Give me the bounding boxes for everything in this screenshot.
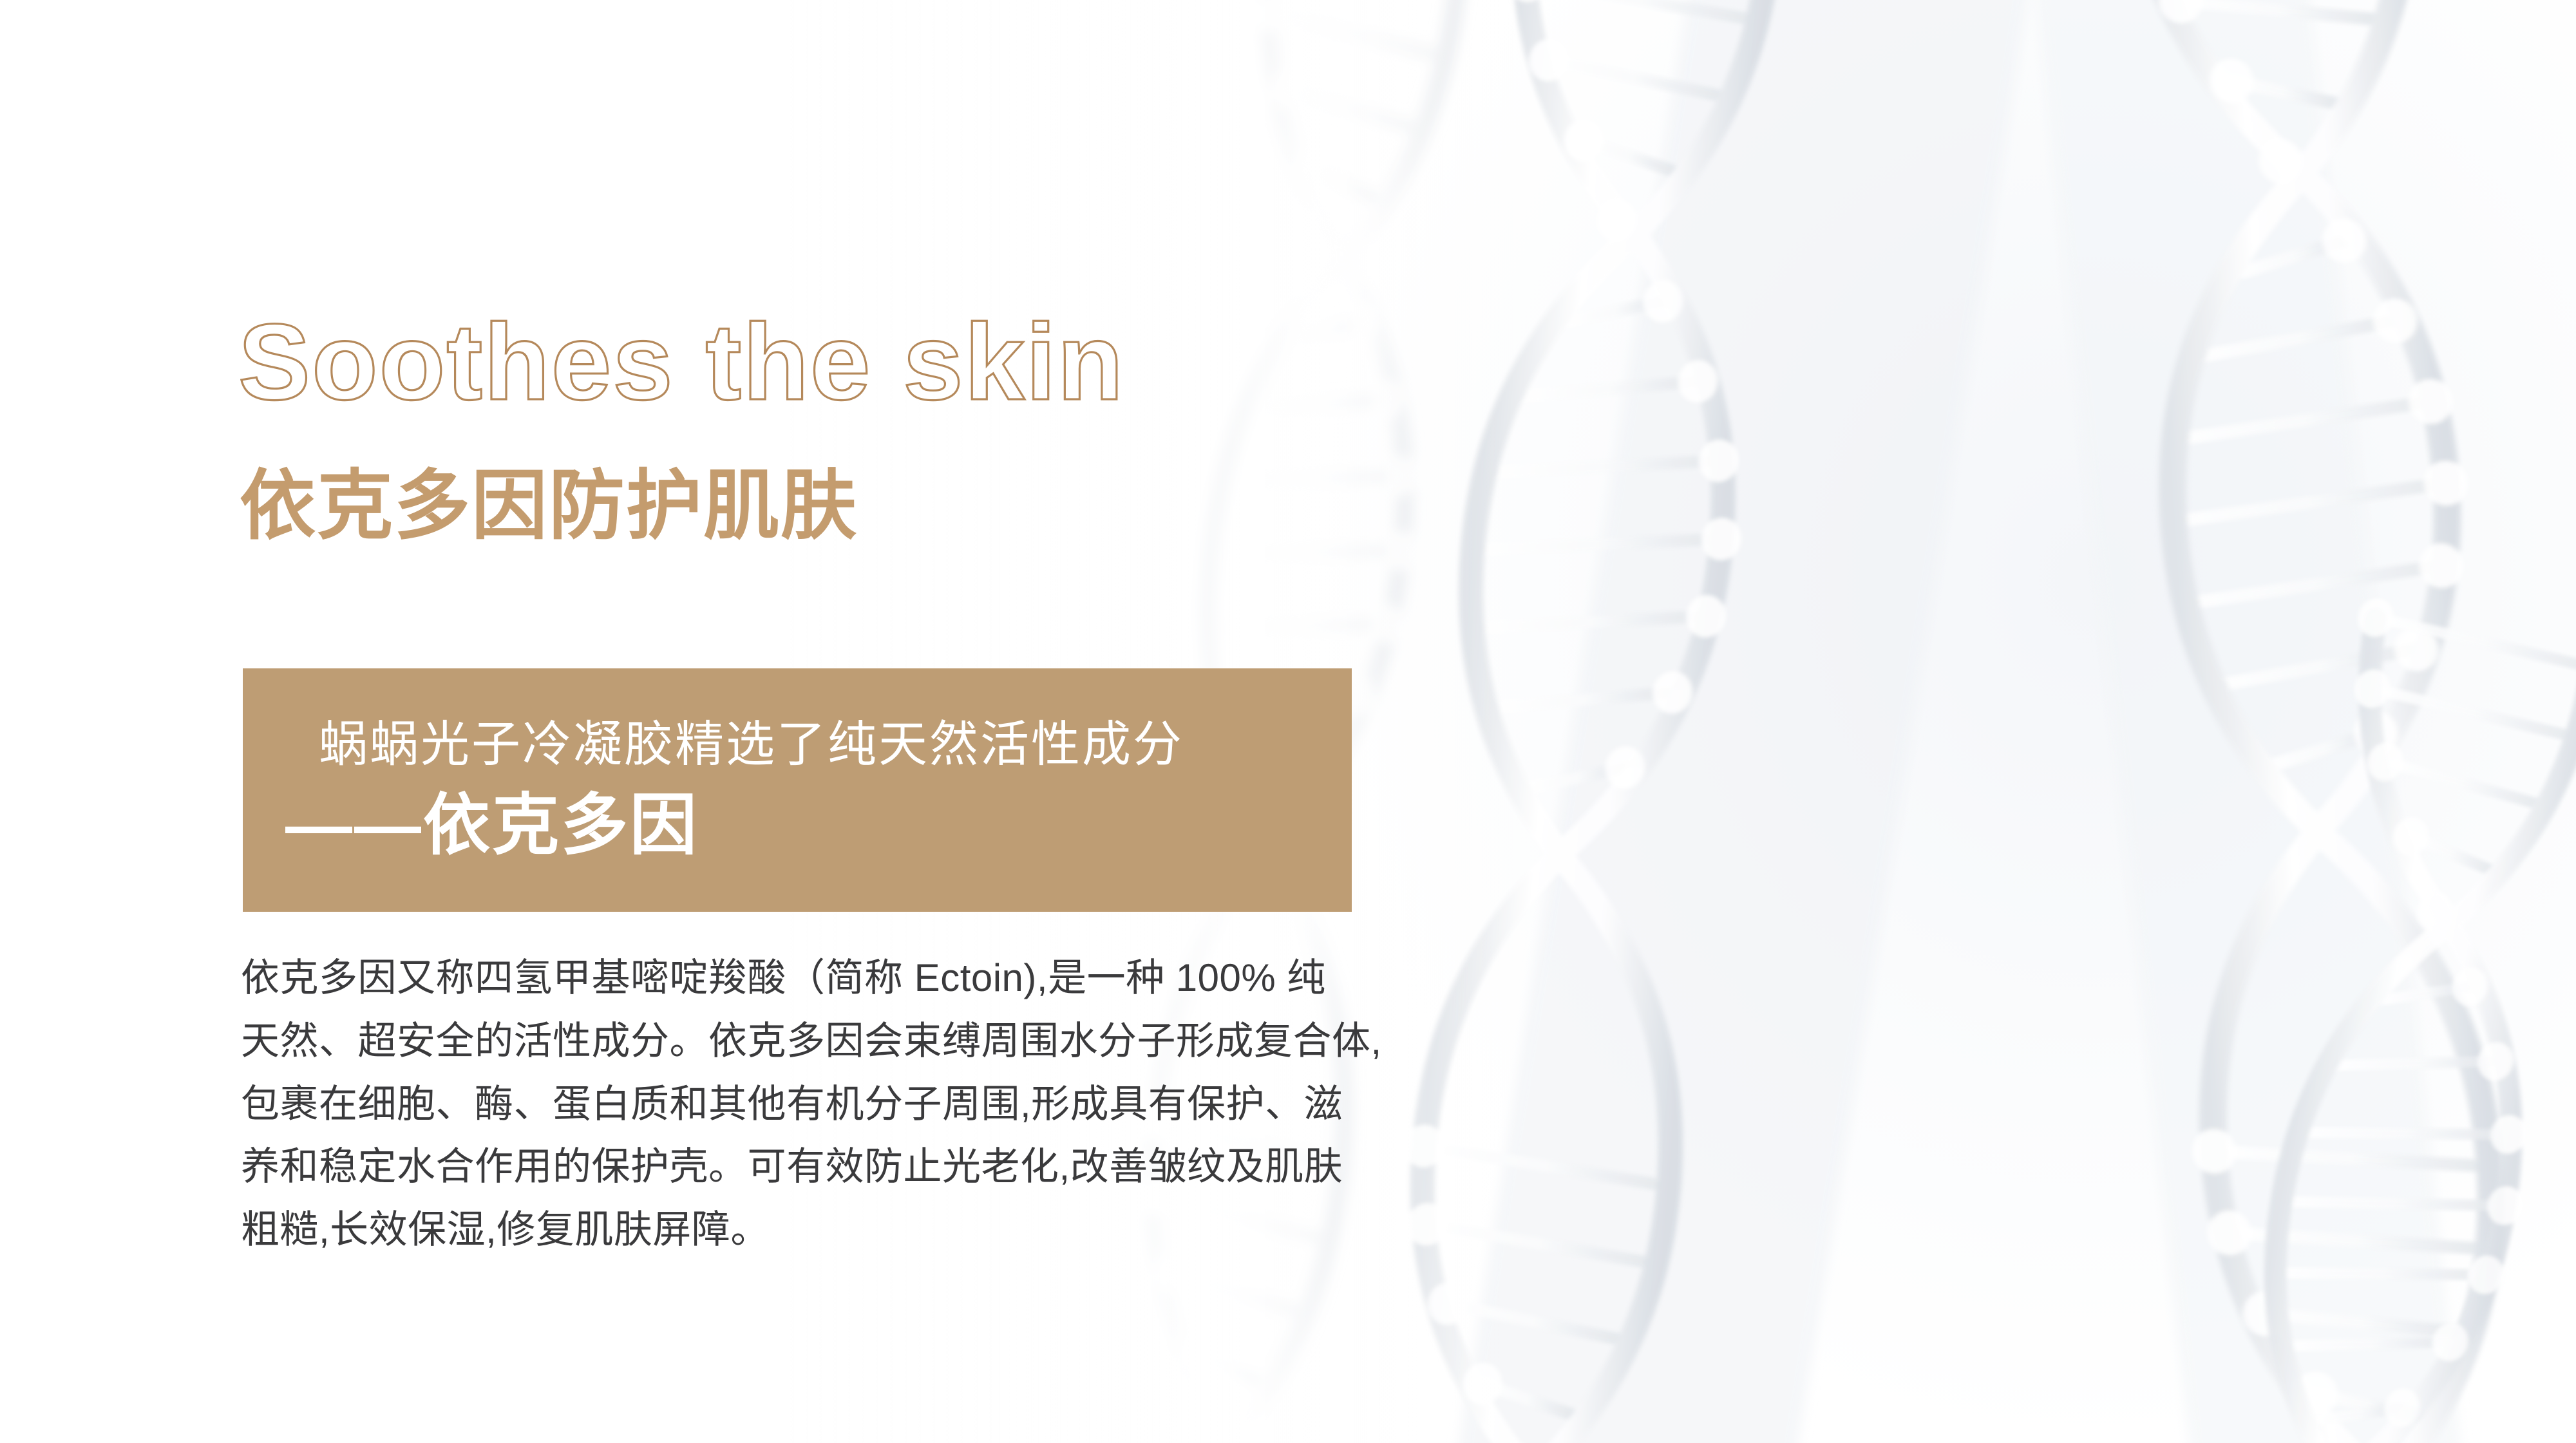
body-line: 天然、超安全的活性成分。依克多因会束缚周围水分子形成复合体, <box>241 1010 1406 1073</box>
body-line: 粗糙,长效保湿,修复肌肤屏障。 <box>241 1198 1406 1261</box>
headline-chinese: 依克多因防护肌肤 <box>240 465 858 549</box>
headline-english-outline: Soothes the skin <box>238 301 1694 430</box>
body-line: 包裹在细胞、酶、蛋白质和其他有机分子周围,形成具有保护、滋 <box>241 1073 1406 1136</box>
headline-english-text: Soothes the skin <box>238 301 1124 422</box>
slide-page: Soothes the skin 依克多因防护肌肤 蜗蜗光子冷凝胶精选了纯天然活… <box>0 0 2576 1443</box>
banner-primary-line: 蜗蜗光子冷凝胶精选了纯天然活性成分 <box>319 714 1352 775</box>
slide-content: Soothes the skin 依克多因防护肌肤 蜗蜗光子冷凝胶精选了纯天然活… <box>0 0 2576 1443</box>
body-line: 养和稳定水合作用的保护壳。可有效防止光老化,改善皱纹及肌肤 <box>241 1135 1406 1198</box>
banner-secondary-line: ——依克多因 <box>285 786 1352 866</box>
body-line: 依克多因又称四氢甲基嘧啶羧酸（简称 Ectoin),是一种 100% 纯 <box>241 947 1406 1010</box>
body-paragraph: 依克多因又称四氢甲基嘧啶羧酸（简称 Ectoin),是一种 100% 纯 天然、… <box>241 947 1406 1261</box>
highlight-banner: 蜗蜗光子冷凝胶精选了纯天然活性成分 ——依克多因 <box>243 668 1352 912</box>
